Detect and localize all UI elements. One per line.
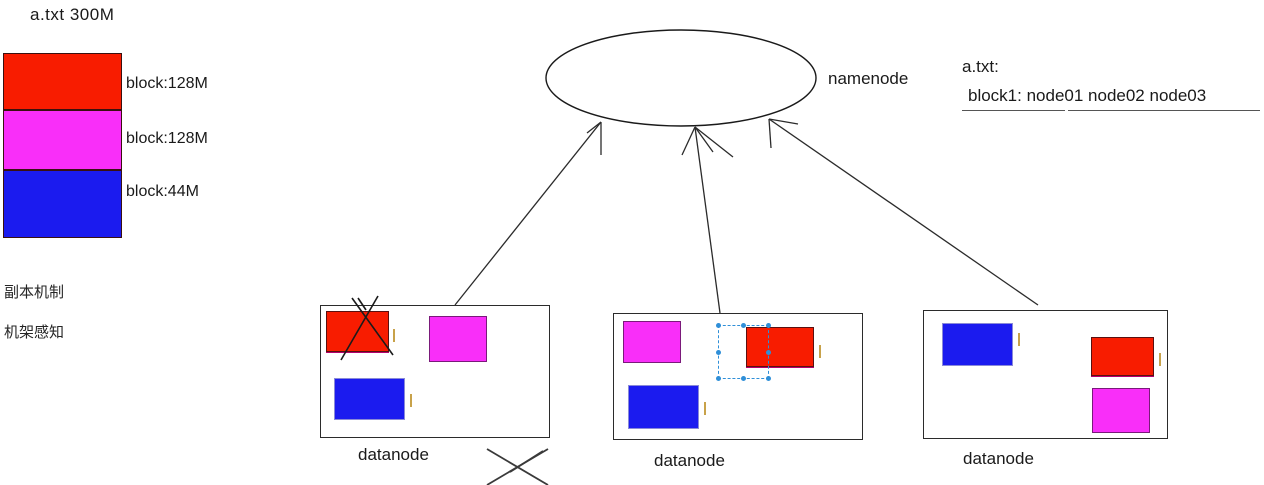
datanode-1-block-blue[interactable] xyxy=(334,378,405,420)
arrow-datanode1-to-namenode xyxy=(455,122,601,305)
selection-handle-ne[interactable] xyxy=(766,323,771,328)
file-title: a.txt 300M xyxy=(30,6,114,23)
note-replication-mechanism: 副本机制 xyxy=(4,285,64,300)
x-mark-annotation xyxy=(487,449,548,485)
datanode-box-2[interactable] xyxy=(613,313,863,440)
selection-handle-w[interactable] xyxy=(716,350,721,355)
selection-handle-e[interactable] xyxy=(766,350,771,355)
selection-handle-nw[interactable] xyxy=(716,323,721,328)
file-block-column xyxy=(3,53,122,238)
datanode-label-3: datanode xyxy=(963,450,1034,467)
arrow-datanode2-to-namenode xyxy=(682,127,733,313)
datanode-3-tick-2 xyxy=(1159,353,1161,366)
metadata-underline-right xyxy=(1068,110,1260,111)
datanode-1-block-red[interactable] xyxy=(326,311,389,352)
namenode-ellipse xyxy=(546,30,816,126)
file-block-segment-2 xyxy=(3,110,122,170)
file-block-label-1: block:128M xyxy=(126,76,208,92)
datanode-box-3[interactable] xyxy=(923,310,1168,439)
datanode-label-2: datanode xyxy=(654,452,725,469)
datanode-1-block-magenta[interactable] xyxy=(429,316,487,362)
file-block-segment-1 xyxy=(3,53,122,110)
metadata-block-entry: block1: node01 node02 node03 xyxy=(968,87,1206,104)
file-block-segment-3 xyxy=(3,170,122,238)
datanode-3-tick-1 xyxy=(1018,333,1020,346)
datanode-2-block-magenta[interactable] xyxy=(623,321,681,363)
selection-handle-n[interactable] xyxy=(741,323,746,328)
datanode-label-1: datanode xyxy=(358,446,429,463)
metadata-file-name: a.txt: xyxy=(962,58,999,75)
selection-handle-sw[interactable] xyxy=(716,376,721,381)
file-block-label-2: block:128M xyxy=(126,131,208,147)
file-block-label-3: block:44M xyxy=(126,184,199,200)
datanode-1-tick-1 xyxy=(393,329,395,342)
selection-handle-se[interactable] xyxy=(766,376,771,381)
datanode-3-block-red[interactable] xyxy=(1091,337,1154,376)
diagram-canvas: a.txt 300M block:128M block:128M block:4… xyxy=(0,0,1264,485)
datanode-box-1[interactable] xyxy=(320,305,550,438)
note-rack-awareness: 机架感知 xyxy=(4,325,64,340)
selection-handle-s[interactable] xyxy=(741,376,746,381)
arrow-datanode3-to-namenode xyxy=(769,119,1038,305)
datanode-3-block-blue[interactable] xyxy=(942,323,1013,366)
datanode-3-block-magenta[interactable] xyxy=(1092,388,1150,433)
datanode-2-block-blue[interactable] xyxy=(628,385,699,429)
datanode-2-tick-2 xyxy=(704,402,706,415)
datanode-1-tick-2 xyxy=(410,394,412,407)
selection-rectangle[interactable] xyxy=(718,325,769,379)
datanode-2-tick-1 xyxy=(819,345,821,358)
namenode-label: namenode xyxy=(828,70,908,87)
metadata-underline-left xyxy=(962,110,1065,111)
